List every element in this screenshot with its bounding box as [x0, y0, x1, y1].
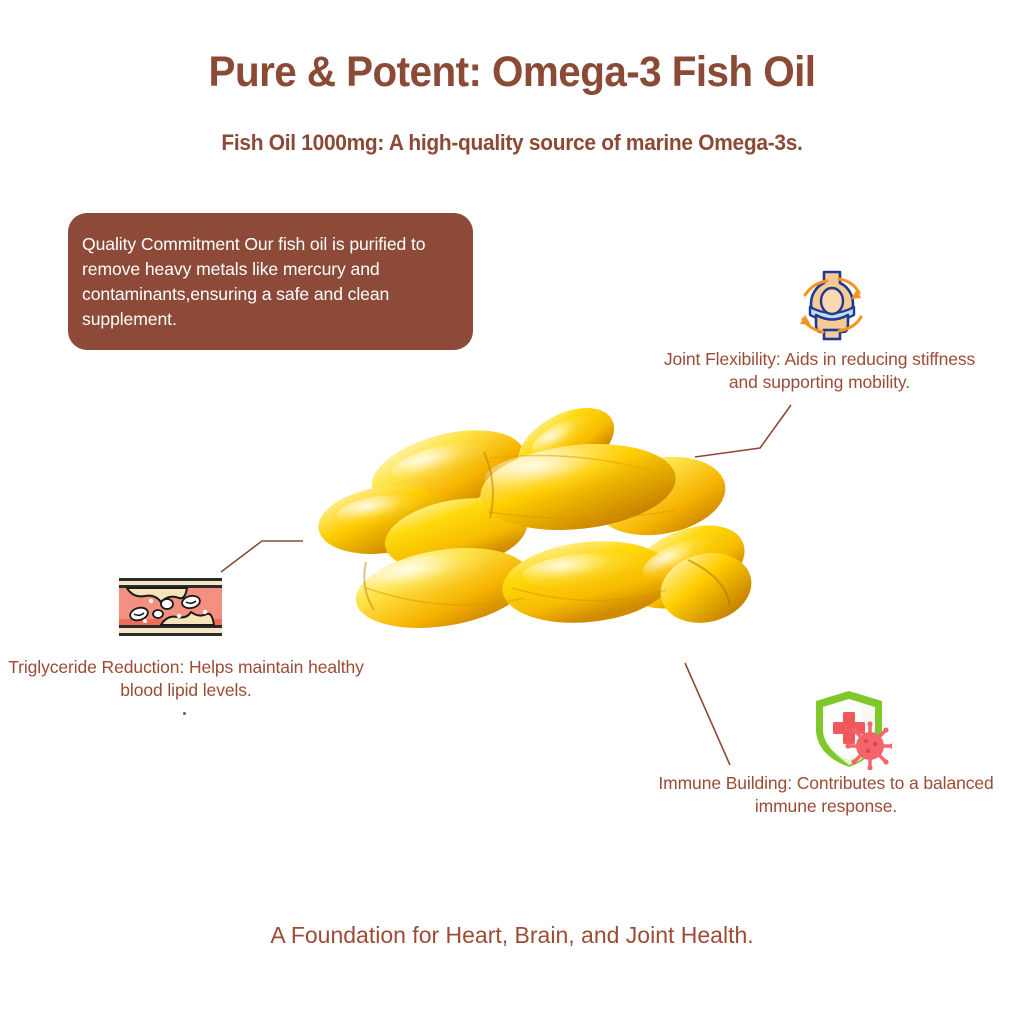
blood-vessel-icon [119, 576, 222, 638]
caption-joint-flexibility: Joint Flexibility: Aids in reducing stif… [652, 348, 987, 394]
quality-commitment-box: Quality Commitment Our fish oil is purif… [68, 213, 473, 350]
page-title: Pure & Potent: Omega-3 Fish Oil [31, 48, 994, 97]
shield-virus-icon [806, 688, 892, 770]
knee-joint-icon [793, 267, 871, 343]
infographic-page: Pure & Potent: Omega-3 Fish Oil Fish Oil… [0, 0, 1024, 1024]
stray-dot-artifact [183, 712, 186, 715]
caption-immune-building: Immune Building: Contributes to a balanc… [650, 772, 1002, 818]
immune-connector-line [685, 663, 730, 765]
footer-tagline: A Foundation for Heart, Brain, and Joint… [0, 922, 1024, 949]
quality-commitment-text: Quality Commitment Our fish oil is purif… [82, 232, 455, 332]
page-subtitle: Fish Oil 1000mg: A high-quality source o… [26, 130, 999, 156]
fish-oil-capsules-image [288, 392, 756, 672]
caption-triglyceride-reduction: Triglyceride Reduction: Helps maintain h… [6, 656, 366, 702]
